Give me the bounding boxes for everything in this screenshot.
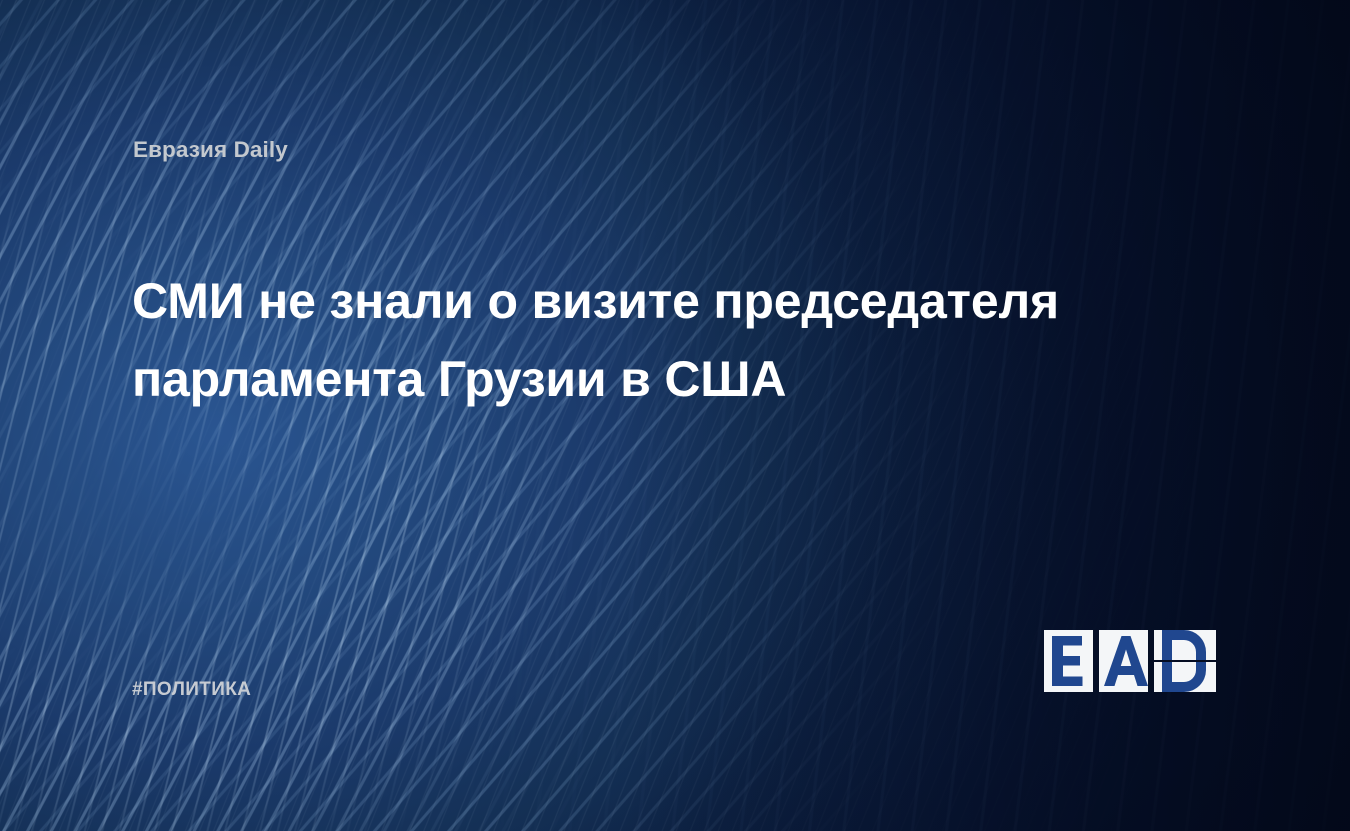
card-content: Евразия Daily СМИ не знали о визите пред… (0, 0, 1350, 831)
eadaily-logo (1044, 630, 1222, 700)
eadaily-logo-svg (1044, 630, 1222, 700)
category-hashtag: #ПОЛИТИКА (132, 679, 251, 701)
site-logo-text: Евразия Daily (133, 137, 288, 163)
logo-tile-a (1099, 630, 1148, 692)
logo-tile-e (1044, 630, 1093, 692)
logo-tile-d-lower (1154, 662, 1216, 692)
logo-tile-d-upper (1154, 630, 1216, 660)
article-headline: СМИ не знали о визите председателя парла… (132, 262, 1162, 418)
share-card: Евразия Daily СМИ не знали о визите пред… (0, 0, 1350, 831)
